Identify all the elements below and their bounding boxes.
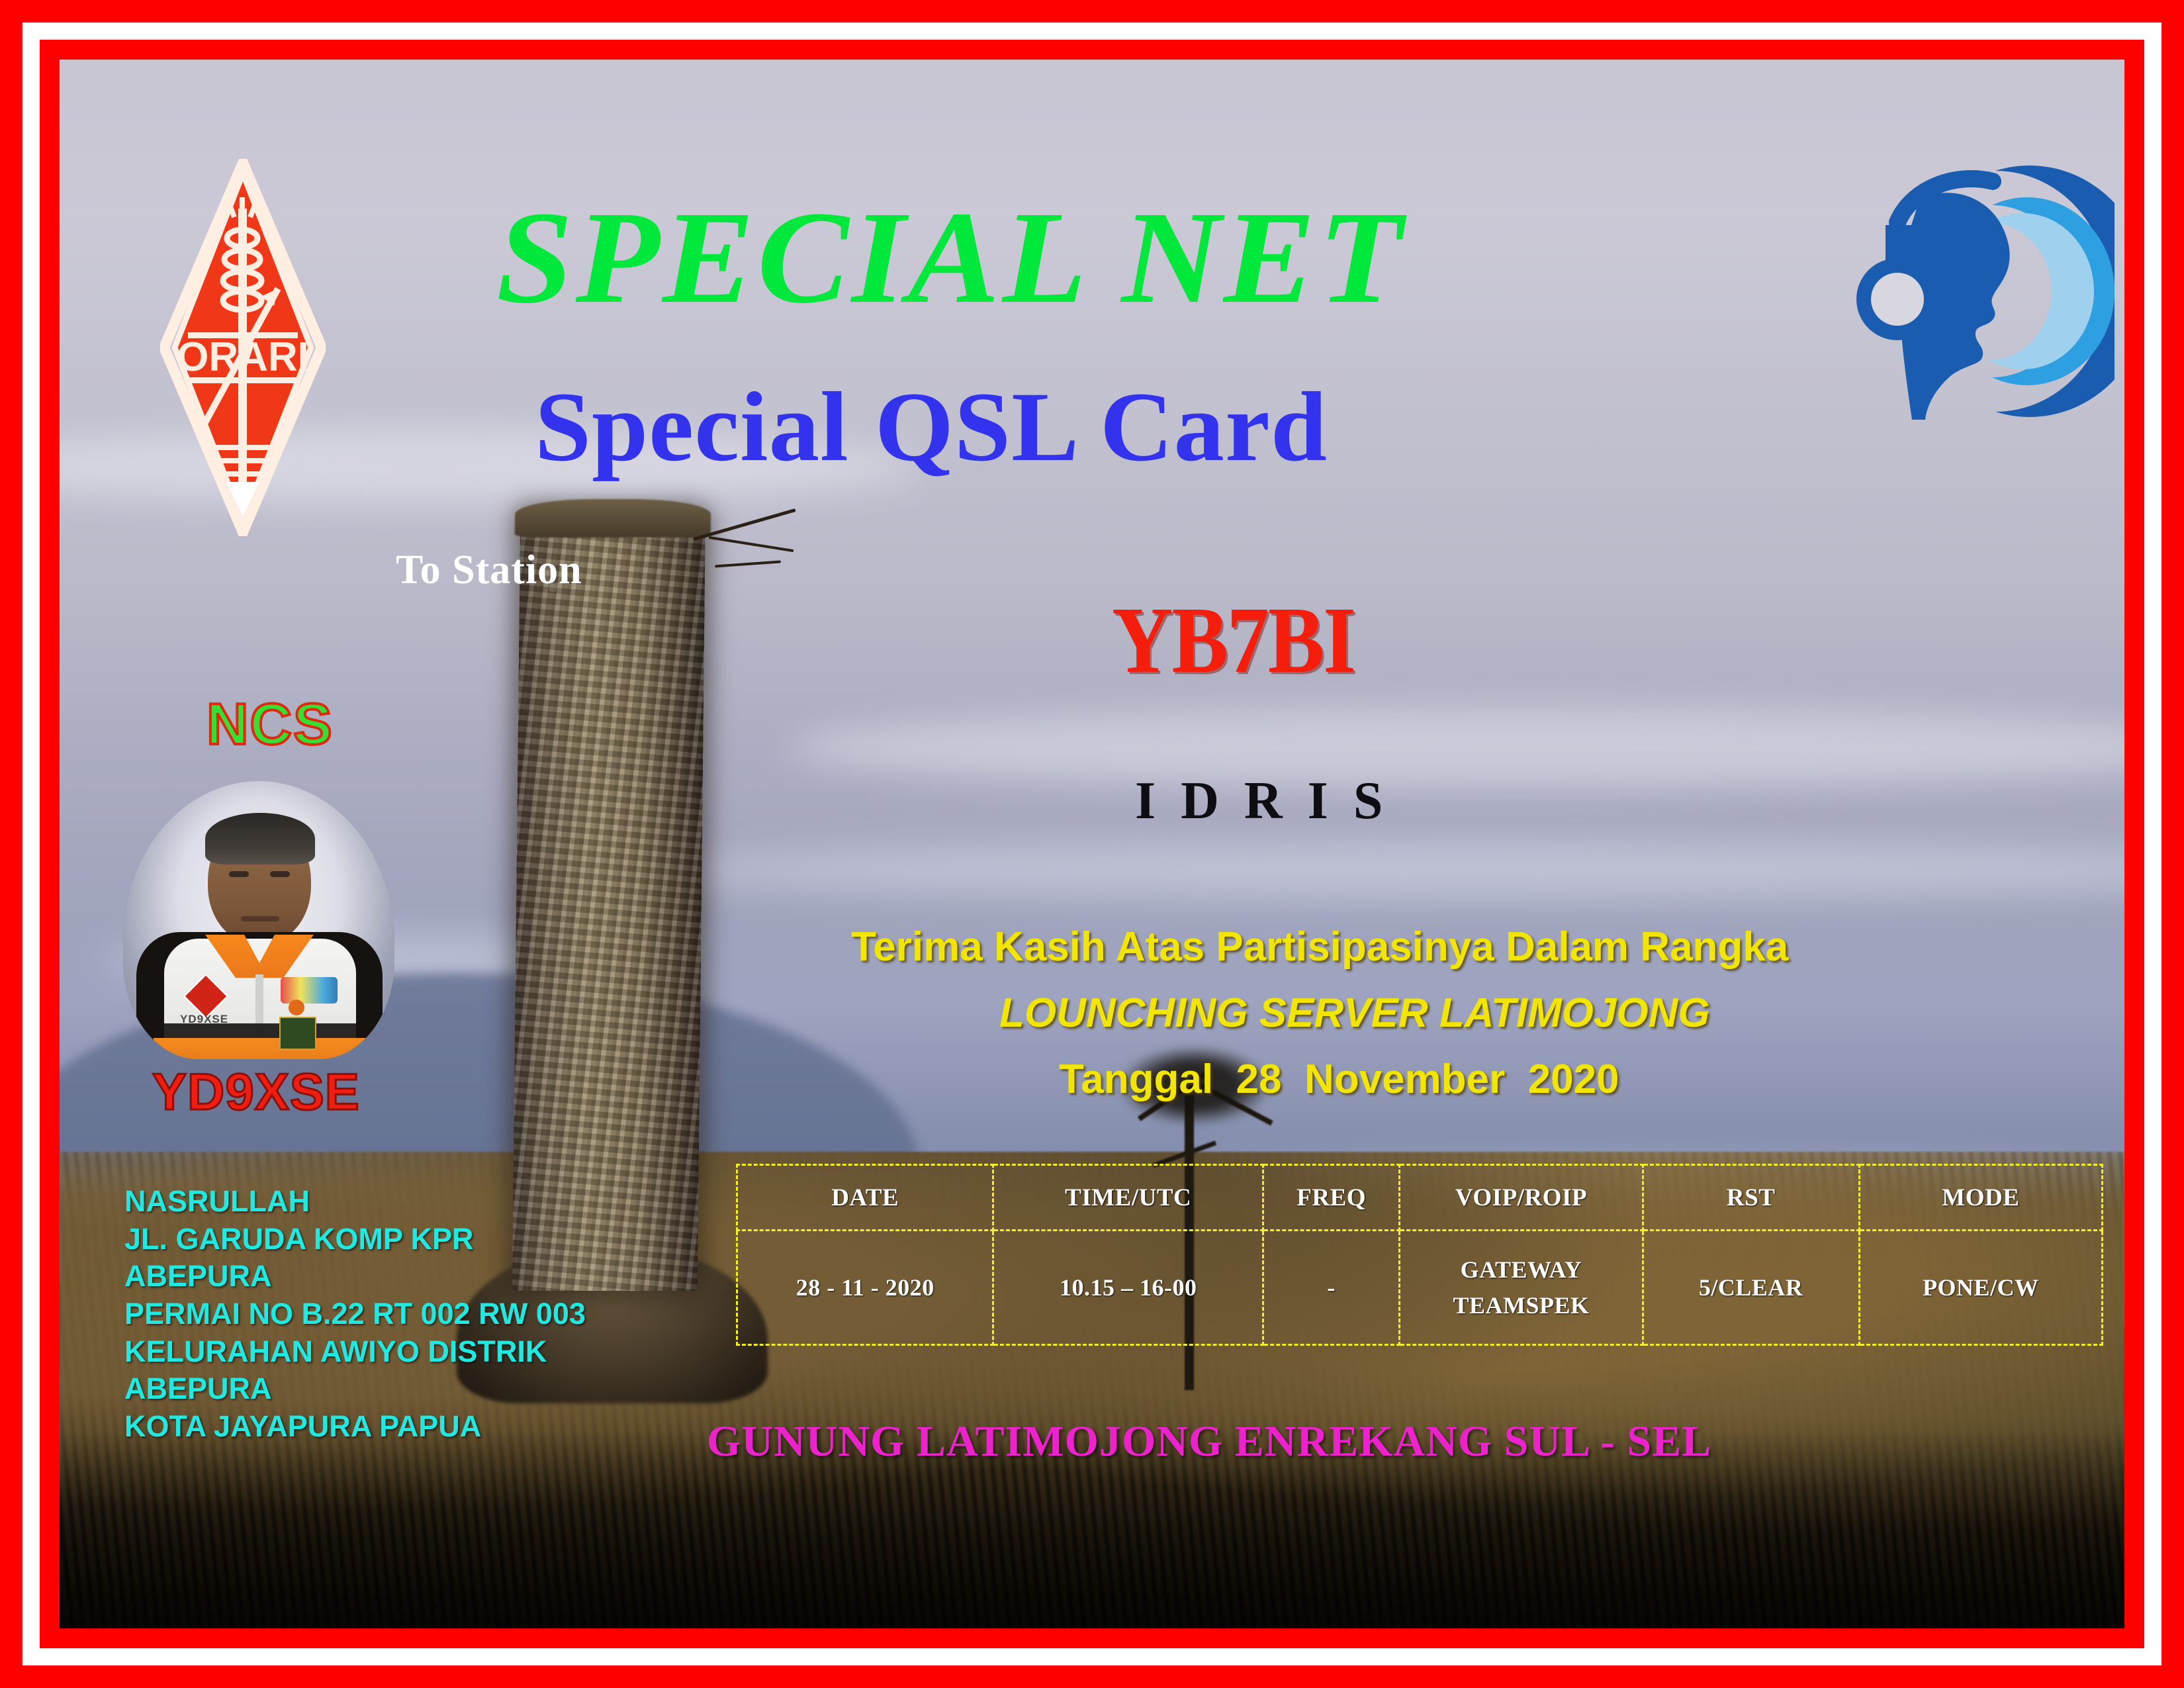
address-line: ABEPURA xyxy=(124,1258,586,1295)
card-white-gap: ORARI xyxy=(23,23,2161,1665)
ncs-operator-photo: YD9XSE xyxy=(123,781,394,1059)
card-inner-red-border: ORARI xyxy=(40,40,2144,1648)
qsl-card: ORARI xyxy=(0,0,2184,1688)
operator-name: I D R I S xyxy=(1135,774,1388,827)
table-header-mode: MODE xyxy=(1859,1165,2102,1231)
photo-mouth xyxy=(241,916,279,921)
photo-id-badge xyxy=(279,1017,316,1050)
stone-monument xyxy=(512,510,705,1291)
address-block: NASRULLAH JL. GARUDA KOMP KPR ABEPURA PE… xyxy=(124,1183,586,1446)
thanks-line-1: Terima Kasih Atas Partisipasinya Dalam R… xyxy=(851,927,1788,968)
table-header-time: TIME/UTC xyxy=(993,1165,1263,1231)
location-caption: GUNUNG LATIMOJONG ENREKANG SUL - SEL xyxy=(707,1420,1711,1464)
thanks-line-2: LOUNCHING SERVER LATIMOJONG xyxy=(999,993,1710,1034)
photo-hair xyxy=(205,813,315,865)
headset-profile-icon xyxy=(1856,159,2115,424)
ncs-label: NCS xyxy=(206,695,334,753)
table-header-row: DATE TIME/UTC FREQ VOIP/ROIP RST MODE xyxy=(737,1165,2103,1231)
page-title: SPECIAL NET xyxy=(496,192,1405,324)
orari-diamond-icon: ORARI xyxy=(160,159,326,536)
table-row: 28 - 11 - 2020 10.15 – 16-00 - GATEWAY T… xyxy=(737,1231,2103,1345)
address-line: JL. GARUDA KOMP KPR xyxy=(124,1221,586,1258)
photo-badge-reel xyxy=(289,1000,304,1015)
table-header-freq: FREQ xyxy=(1263,1165,1400,1231)
address-line: KOTA JAYAPURA PAPUA xyxy=(124,1408,586,1446)
table-header-voip-roip: VOIP/ROIP xyxy=(1400,1165,1643,1231)
address-line: NASRULLAH xyxy=(124,1183,586,1221)
orari-logo: ORARI xyxy=(160,159,326,536)
table-cell-time: 10.15 – 16-00 xyxy=(993,1231,1263,1345)
card-photo-area: ORARI xyxy=(60,60,2124,1628)
photo-eye xyxy=(270,871,290,877)
qso-data-table: DATE TIME/UTC FREQ VOIP/ROIP RST MODE 28… xyxy=(736,1164,2103,1346)
table-cell-rst: 5/CLEAR xyxy=(1643,1231,1859,1345)
page-subtitle: Special QSL Card xyxy=(535,377,1328,477)
table-header-rst: RST xyxy=(1643,1165,1859,1231)
thanks-line-3: Tanggal 28 November 2020 xyxy=(1059,1059,1619,1100)
photo-eye xyxy=(229,871,249,877)
address-line: PERMAI NO B.22 RT 002 RW 003 xyxy=(124,1295,586,1333)
orari-wordmark: ORARI xyxy=(177,334,309,380)
table-cell-mode: PONE/CW xyxy=(1859,1231,2102,1345)
table-cell-voip-roip: GATEWAY TEAMSPEK xyxy=(1400,1231,1643,1345)
headset-profile-logo xyxy=(1856,159,2115,424)
photo-emblem xyxy=(281,977,338,1004)
address-line: ABEPURA xyxy=(124,1370,586,1408)
table-header-date: DATE xyxy=(737,1165,993,1231)
ncs-callsign: YD9XSE xyxy=(152,1066,360,1117)
address-line: KELURAHAN AWIYO DISTRIK xyxy=(124,1333,586,1371)
photo-sash xyxy=(154,1038,367,1059)
to-station-label: To Station xyxy=(396,549,582,590)
table-cell-date: 28 - 11 - 2020 xyxy=(737,1231,993,1345)
photo-callsign-text: YD9XSE xyxy=(180,1013,228,1026)
callsign: YB7BI xyxy=(1112,592,1355,687)
table-cell-freq: - xyxy=(1263,1231,1400,1345)
